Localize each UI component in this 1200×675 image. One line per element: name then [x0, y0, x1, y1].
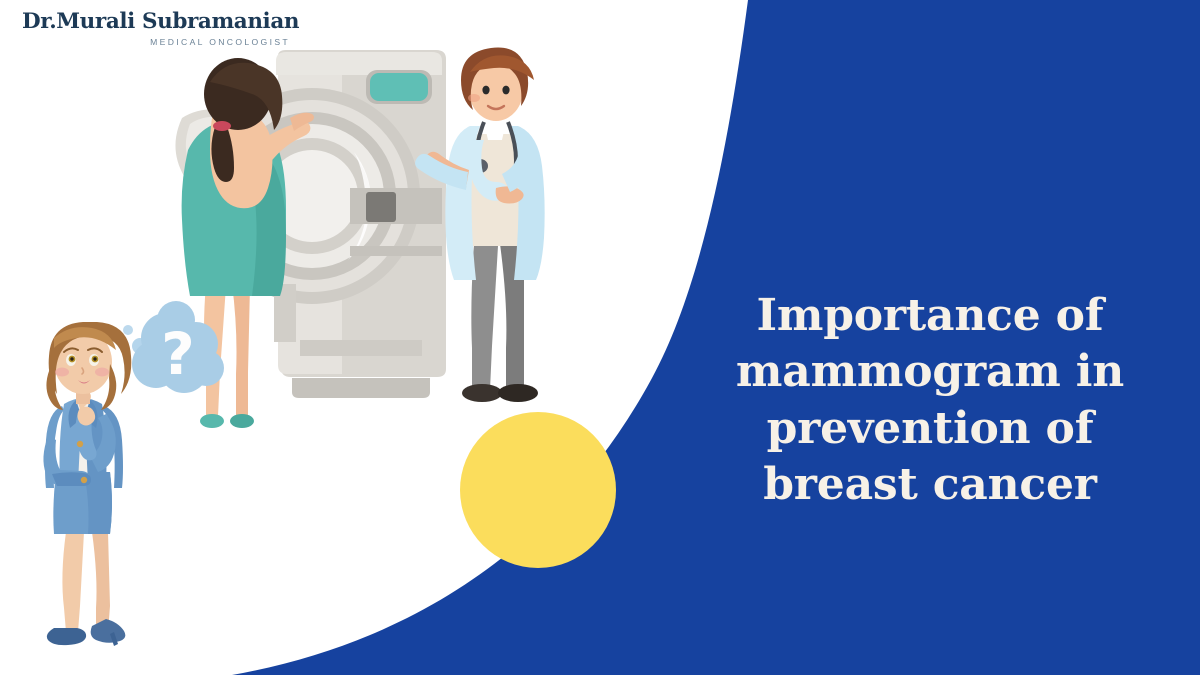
logo-subtitle: MEDICAL ONCOLOGIST: [22, 37, 292, 47]
thinking-woman-illustration: ?: [18, 316, 208, 656]
yellow-accent-circle: [460, 412, 616, 568]
machine-screen: [370, 73, 428, 101]
logo-name: Dr.Murali Subramanian: [22, 10, 292, 34]
headline-line-3: prevention of: [700, 401, 1160, 457]
headline-line-1: Importance of: [700, 288, 1160, 344]
question-mark-glyph: ?: [161, 320, 195, 388]
headline-line-4: breast cancer: [700, 457, 1160, 513]
brand-logo[interactable]: Dr.Murali Subramanian MEDICAL ONCOLOGIST: [22, 10, 292, 47]
headline-line-2: mammogram in: [700, 344, 1160, 400]
mammogram-scene-illustration: [170, 48, 590, 398]
headline: Importance of mammogram in prevention of…: [700, 288, 1160, 513]
banner: Dr.Murali Subramanian MEDICAL ONCOLOGIST…: [0, 0, 1200, 675]
